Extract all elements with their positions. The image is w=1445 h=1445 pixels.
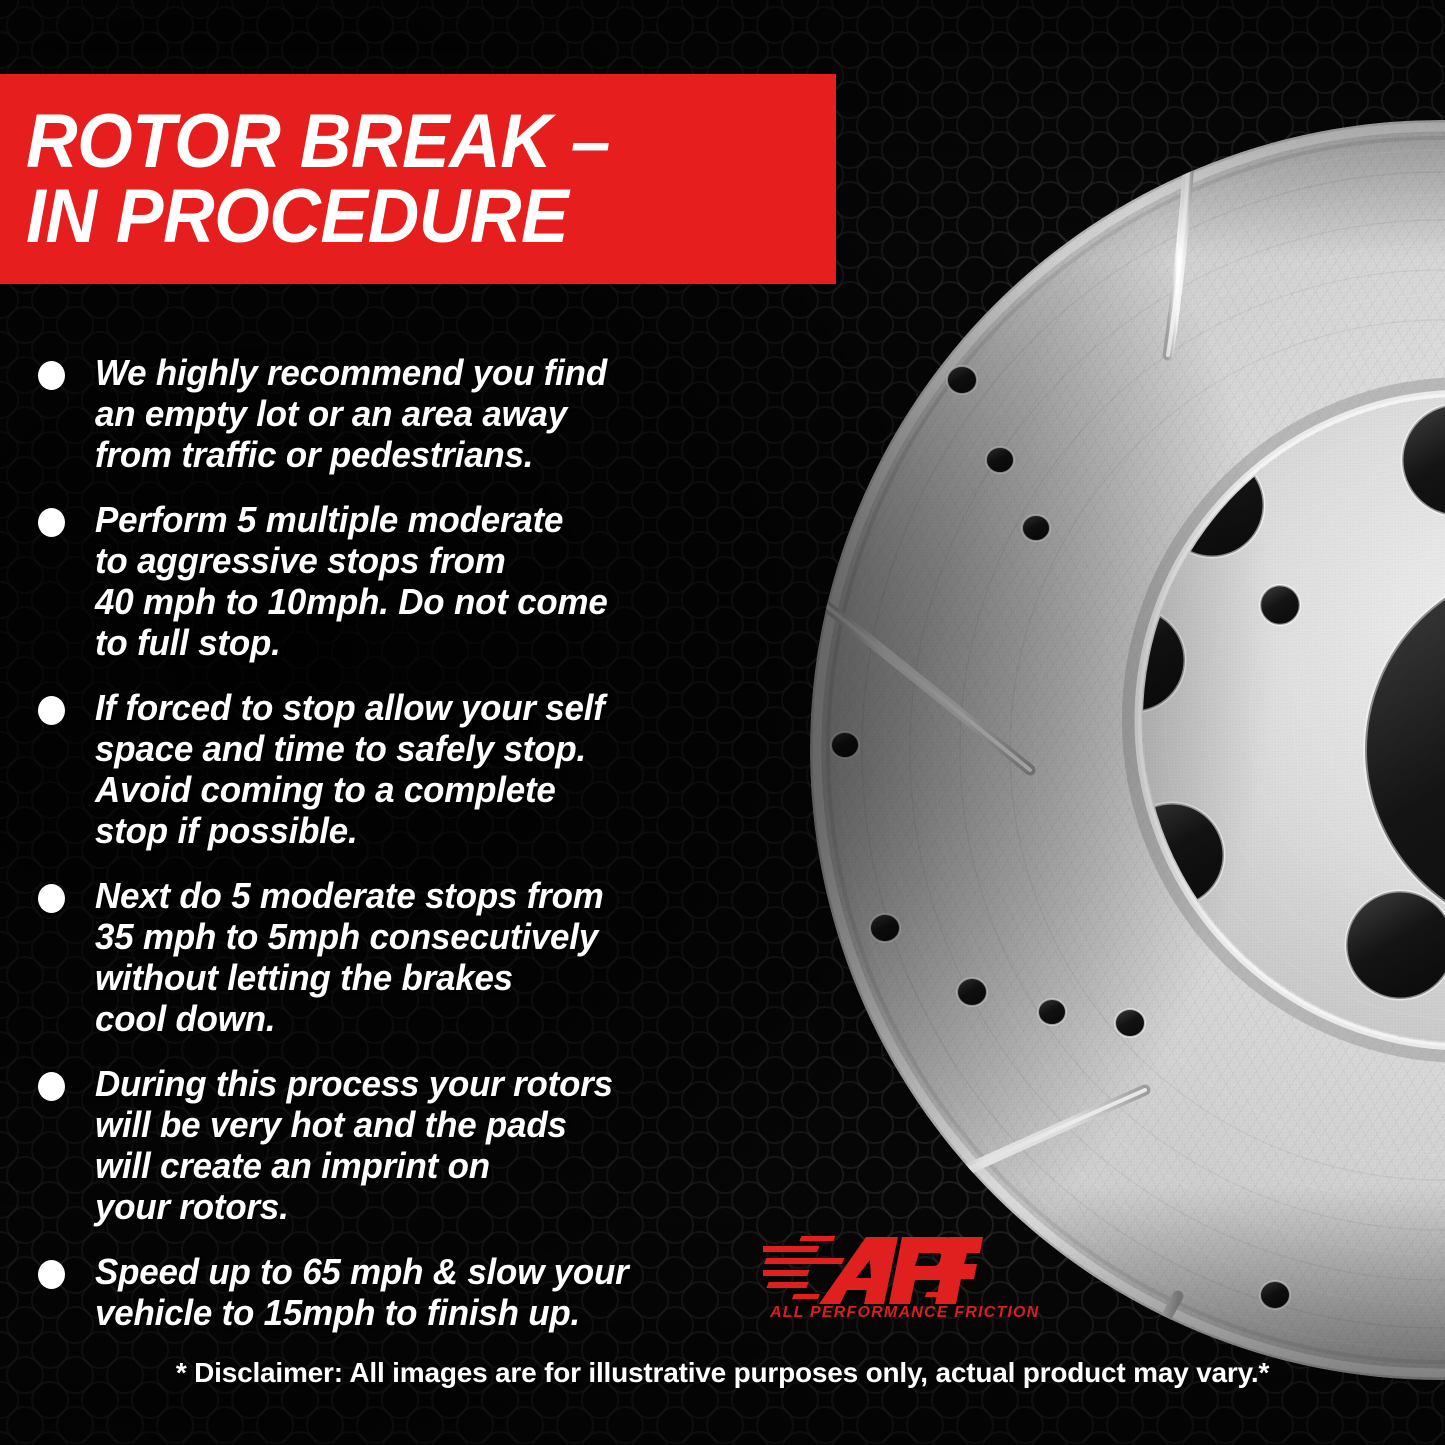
list-item-text: During this process your rotors will be … [95, 1063, 613, 1227]
bullet-dot-icon [38, 361, 65, 390]
bullet-dot-icon [38, 1072, 65, 1101]
title-banner: ROTOR BREAK – IN PROCEDURE [0, 74, 836, 284]
list-item-text: If forced to stop allow your self space … [95, 687, 605, 851]
list-item: If forced to stop allow your self space … [38, 687, 758, 851]
bullet-dot-icon [38, 884, 65, 913]
page-title-line-2: IN PROCEDURE [26, 179, 787, 254]
apf-logo-tagline: ALL PERFORMANCE FRICTION [770, 1304, 1039, 1322]
bullet-dot-icon [38, 508, 65, 537]
disclaimer-text: * Disclaimer: All images are for illustr… [0, 1357, 1445, 1389]
list-item: During this process your rotors will be … [38, 1063, 758, 1227]
list-item: Perform 5 multiple moderate to aggressiv… [38, 499, 758, 663]
bullet-dot-icon [38, 696, 65, 725]
list-item-text: Next do 5 moderate stops from 35 mph to … [95, 875, 604, 1039]
list-item: We highly recommend you find an empty lo… [38, 352, 758, 475]
procedure-step-list: We highly recommend you find an empty lo… [38, 352, 758, 1357]
list-item: Next do 5 moderate stops from 35 mph to … [38, 875, 758, 1039]
list-item: Speed up to 65 mph & slow your vehicle t… [38, 1251, 758, 1333]
list-item-text: We highly recommend you find an empty lo… [95, 352, 607, 475]
list-item-text: Speed up to 65 mph & slow your vehicle t… [95, 1251, 629, 1333]
list-item-text: Perform 5 multiple moderate to aggressiv… [95, 499, 608, 663]
page-title-line-1: ROTOR BREAK – [26, 104, 787, 179]
poster-canvas: ROTOR BREAK – IN PROCEDURE We highly rec… [0, 0, 1445, 1445]
bullet-dot-icon [38, 1260, 65, 1289]
